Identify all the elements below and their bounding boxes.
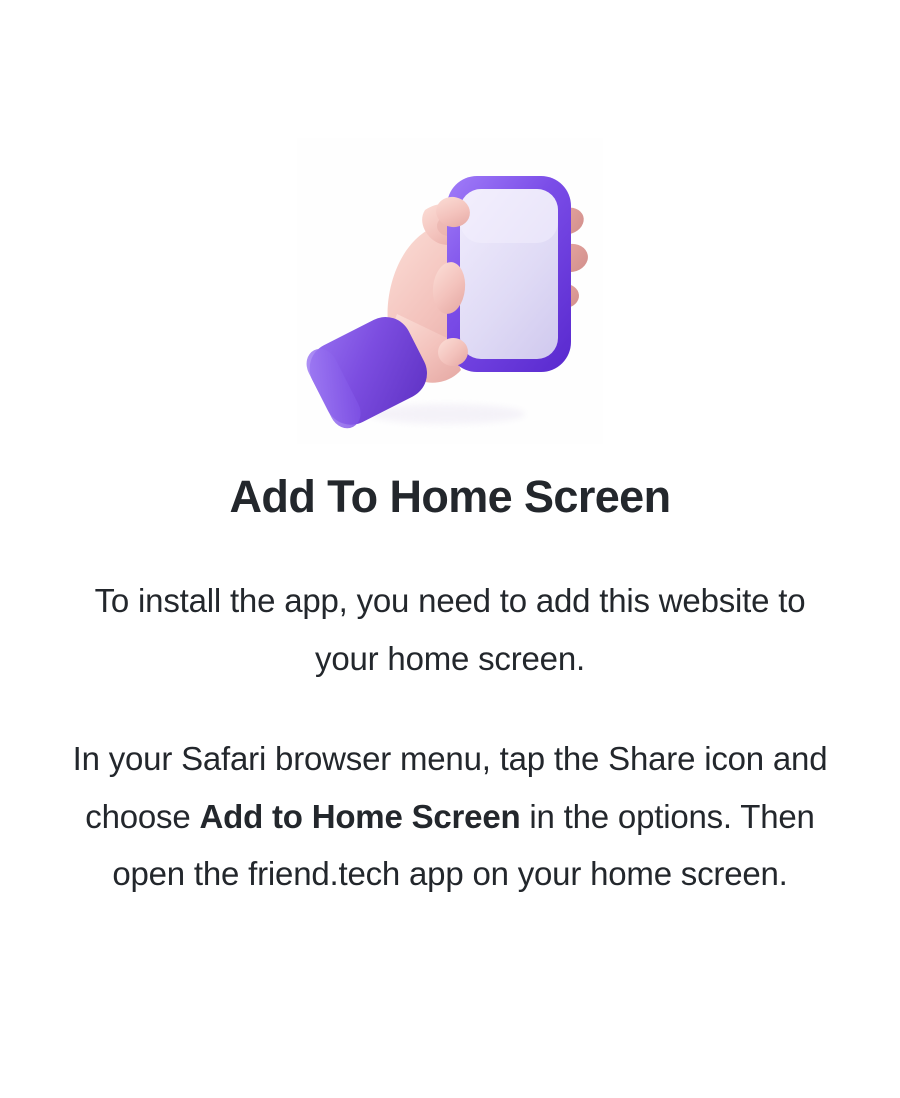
instructions-paragraph-1: To install the app, you need to add this… <box>70 572 830 688</box>
screen-highlight <box>460 189 558 243</box>
hand-holding-phone-emoji-icon <box>297 138 603 444</box>
add-to-home-screen-page: Add To Home Screen To install the app, y… <box>0 0 900 1098</box>
hand-holding-phone-illustration <box>297 138 603 444</box>
page-title: Add To Home Screen <box>230 472 671 522</box>
instructions-paragraph-2: In your Safari browser menu, tap the Sha… <box>70 730 830 903</box>
instructions-block: To install the app, you need to add this… <box>70 572 830 903</box>
illustration-shadow <box>369 404 525 424</box>
add-to-home-screen-emphasis: Add to Home Screen <box>199 798 520 835</box>
